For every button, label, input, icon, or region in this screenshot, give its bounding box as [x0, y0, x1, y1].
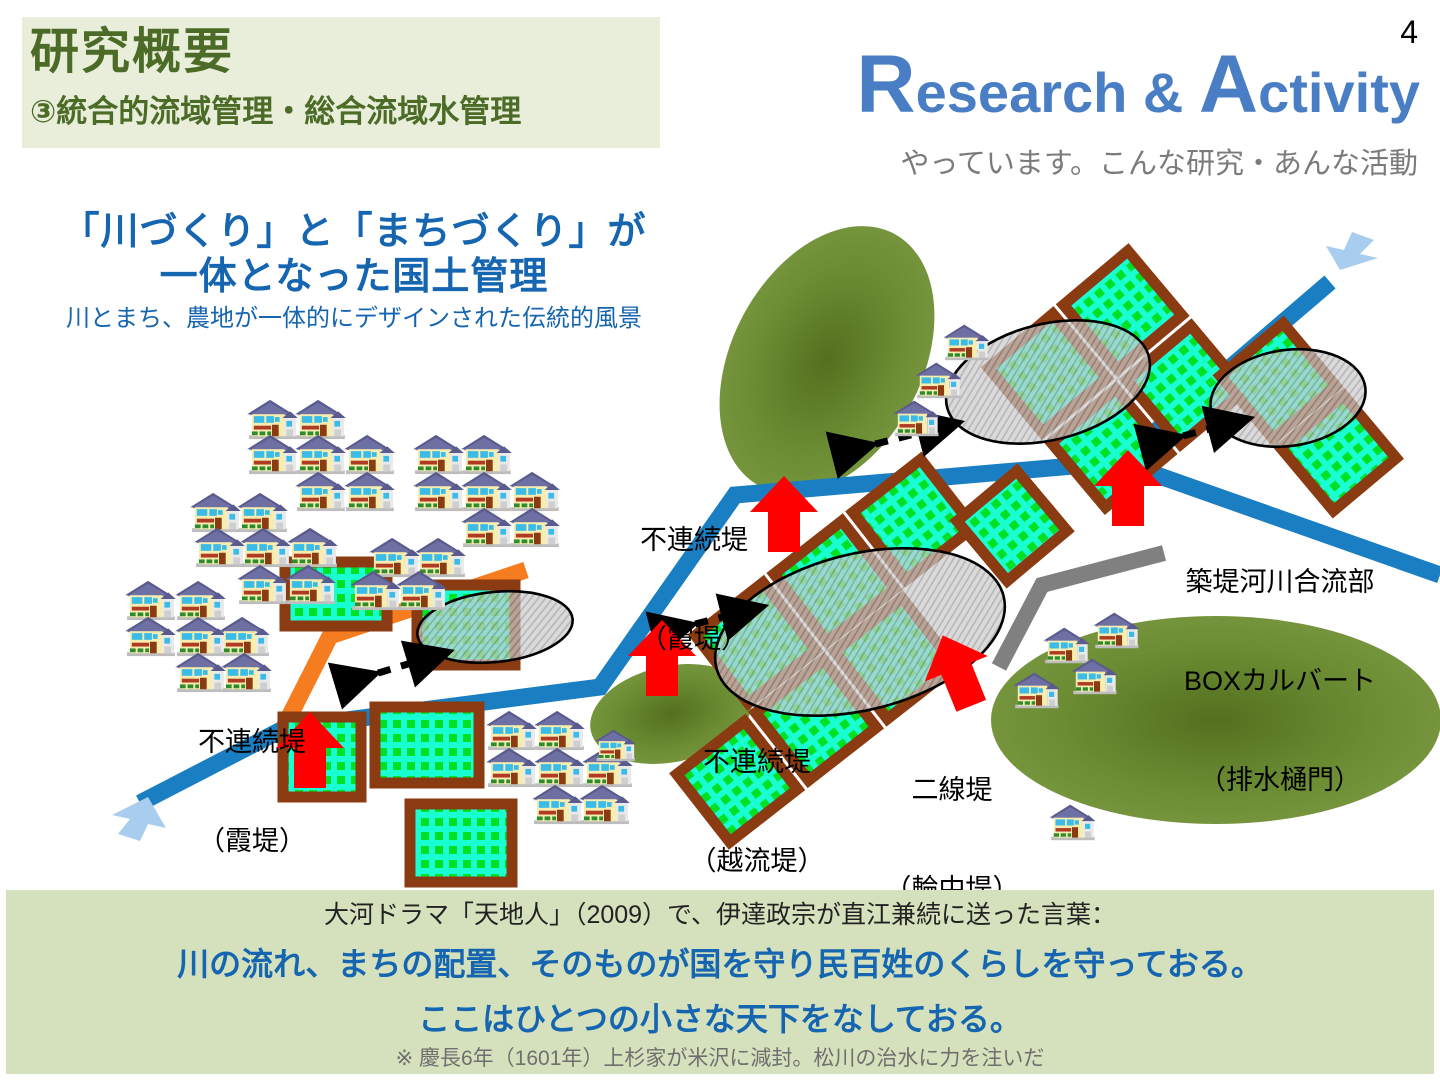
brand-r: R [856, 39, 915, 130]
brand-a: A [1199, 39, 1258, 130]
flow-direction-arrow-in [1326, 232, 1378, 270]
label-line-1: 二線堤 [862, 774, 1042, 807]
slide-root: 研究概要 ③統合的流域管理・総合流域水管理 Research & Activit… [0, 0, 1440, 1080]
brand-esearch: esearch & [916, 61, 1199, 124]
footer-line-2: 川の流れ、まちの配置、そのものが国を守り民百姓のくらしを守っておる。 [0, 948, 1440, 980]
label-line-2: （越流堤） [662, 845, 852, 878]
label-line-3: （排水樋門） [1140, 764, 1420, 797]
brand-ctivity: ctivity [1258, 61, 1420, 124]
footer-line-4: ※ 慶長6年（1601年）上杉家が米沢に減封。松川の治水に力を注いだ [0, 1048, 1440, 1069]
label-line-1: 不連続堤 [162, 726, 342, 759]
page-title: 研究概要 [30, 28, 234, 77]
label-line-1: 不連続堤 [604, 524, 784, 557]
label-line-2: BOXカルバート [1140, 665, 1420, 698]
label-line-1: 不連続堤 [662, 746, 852, 779]
label-line-2: （霞堤） [604, 623, 784, 656]
footer-line-1: 大河ドラマ「天地人」（2009）で、伊達政宗が直江兼続に送った言葉： [0, 903, 1440, 928]
brand-tagline: やっています。こんな研究・あんな活動 [700, 150, 1418, 179]
label-box-culvert: 築堤河川合流部 BOXカルバート （排水樋門） [1140, 500, 1420, 862]
footer-line-3: ここはひとつの小さな天下をなしておる。 [0, 1003, 1440, 1035]
page-number: 4 [1400, 16, 1418, 48]
label-line-1: 築堤河川合流部 [1140, 566, 1420, 599]
page-subtitle: ③統合的流域管理・総合流域水管理 [30, 96, 521, 127]
brand-title: Research & Activity [700, 52, 1420, 132]
landscape-diagram: 不連続堤 （霞堤） 流れの向き 不連続堤 （霞堤） 不連続堤 （越流堤） 二線堤… [0, 200, 1440, 890]
